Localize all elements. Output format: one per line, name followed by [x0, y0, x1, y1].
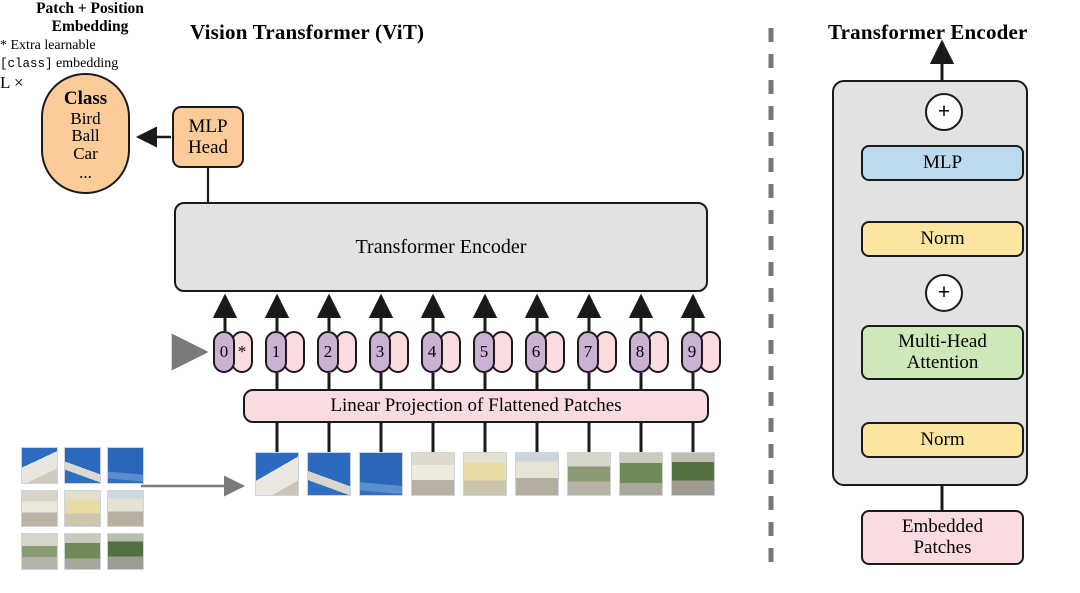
image-patch-r2-c0 [21, 533, 58, 570]
image-patch-r2-c2 [107, 533, 144, 570]
token-7[interactable]: 7 [577, 331, 617, 373]
class-output-box[interactable]: Class Bird Ball Car ... [41, 73, 130, 194]
token-patch-embedding-7: 7 [577, 331, 599, 373]
norm-block-top[interactable]: Norm [861, 221, 1024, 257]
class-item-ball: Ball [71, 127, 99, 145]
flattened-patch-7 [567, 452, 611, 496]
token-4[interactable]: 4 [421, 331, 461, 373]
image-patch-r1-c0 [21, 490, 58, 527]
image-patch-r1-c2 [107, 490, 144, 527]
flattened-patch-6 [515, 452, 559, 496]
embedded-patches-line1: Embedded [902, 517, 983, 538]
token-patch-embedding-4: 4 [421, 331, 443, 373]
flattened-patch-2 [307, 452, 351, 496]
residual-add-middle: + [925, 274, 963, 312]
mlp-head-line2: Head [188, 137, 228, 158]
token-patch-embedding-3: 3 [369, 331, 391, 373]
flattened-patch-5 [463, 452, 507, 496]
image-patch-r2-c1 [64, 533, 101, 570]
flattened-patch-1 [255, 452, 299, 496]
class-item-car: Car [73, 145, 98, 163]
token-8[interactable]: 8 [629, 331, 669, 373]
flattened-patch-8 [619, 452, 663, 496]
token-2[interactable]: 2 [317, 331, 357, 373]
page-title-right: Transformer Encoder [828, 20, 1028, 45]
embedded-patches-block[interactable]: Embedded Patches [861, 510, 1024, 565]
multi-head-attention-block[interactable]: Multi-Head Attention [861, 325, 1024, 380]
transformer-encoder-block[interactable]: Transformer Encoder [174, 202, 708, 292]
class-token-mono: [class] [0, 57, 53, 71]
patch-position-embedding-label: Patch + Position Embedding [0, 0, 180, 37]
mlp-block[interactable]: MLP [861, 145, 1024, 181]
token-patch-embedding-0: 0 [213, 331, 235, 373]
page-title-left: Vision Transformer (ViT) [190, 20, 424, 45]
image-patch-r0-c1 [64, 447, 101, 484]
token-patch-embedding-5: 5 [473, 331, 495, 373]
flattened-patch-4 [411, 452, 455, 496]
token-patch-embedding-8: 8 [629, 331, 651, 373]
token-0[interactable]: 0* [213, 331, 253, 373]
mlp-head-block[interactable]: MLP Head [172, 106, 244, 168]
linear-projection-block[interactable]: Linear Projection of Flattened Patches [243, 389, 709, 423]
extra-note-suffix: embedding [53, 56, 119, 71]
token-patch-embedding-9: 9 [681, 331, 703, 373]
token-patch-embedding-1: 1 [265, 331, 287, 373]
diagram-canvas: Vision Transformer (ViT) Transformer Enc… [0, 0, 1080, 593]
pp-label-line2: Embedding [0, 18, 180, 36]
mha-line1: Multi-Head [898, 332, 987, 353]
token-1[interactable]: 1 [265, 331, 305, 373]
token-patch-embedding-2: 2 [317, 331, 339, 373]
image-patch-r0-c0 [21, 447, 58, 484]
token-6[interactable]: 6 [525, 331, 565, 373]
embedded-patches-line2: Patches [913, 538, 971, 559]
mha-line2: Attention [907, 353, 979, 374]
token-patch-embedding-6: 6 [525, 331, 547, 373]
class-item-bird: Bird [70, 110, 100, 128]
class-ellipsis: ... [79, 163, 92, 178]
image-patch-r0-c2 [107, 447, 144, 484]
flattened-patch-9 [671, 452, 715, 496]
norm-block-bottom[interactable]: Norm [861, 422, 1024, 458]
flattened-patch-3 [359, 452, 403, 496]
image-patch-r1-c1 [64, 490, 101, 527]
token-5[interactable]: 5 [473, 331, 513, 373]
pp-label-line1: Patch + Position [0, 0, 180, 18]
residual-add-top: + [925, 93, 963, 131]
token-3[interactable]: 3 [369, 331, 409, 373]
extra-learnable-note: * Extra learnable [class] embedding [0, 37, 176, 73]
class-heading: Class [64, 89, 107, 109]
extra-note-line1: * Extra learnable [0, 37, 176, 55]
mlp-head-line1: MLP [188, 116, 227, 137]
token-9[interactable]: 9 [681, 331, 721, 373]
